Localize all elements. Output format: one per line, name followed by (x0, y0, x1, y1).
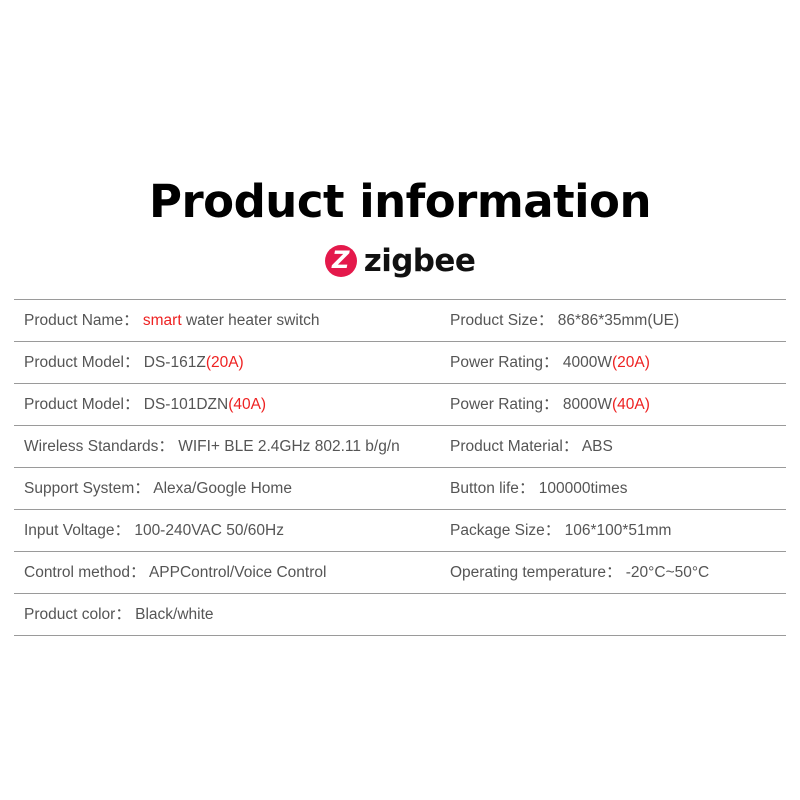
spec-row: Wireless Standards： WIFI+ BLE 2.4GHz 802… (14, 426, 786, 468)
spec-value: 86*86*35mm(UE) (553, 312, 679, 329)
spec-value: 100000times (534, 480, 627, 497)
spec-cell-right: Power Rating： 4000W(20A) (450, 353, 650, 373)
spec-value-accent-suffix: (20A) (206, 354, 244, 371)
zigbee-logo: Z zigbee (0, 245, 800, 277)
spec-label: Power Rating (450, 354, 543, 371)
spec-row: Support System： Alexa/Google HomeButton … (14, 468, 786, 510)
spec-separator: ： (158, 438, 174, 455)
spec-label: Product Name (24, 312, 123, 329)
spec-separator: ： (519, 480, 535, 497)
spec-row: Product Model： DS-101DZN(40A)Power Ratin… (14, 384, 786, 426)
spec-separator: ： (543, 396, 559, 413)
page-title: Product information (0, 176, 800, 228)
spec-cell-left: Product Model： DS-161Z(20A) (24, 353, 244, 373)
spec-cell-left: Control method： APPControl/Voice Control (24, 563, 326, 583)
spec-label: Product Model (24, 396, 124, 413)
spec-label: Button life (450, 480, 519, 497)
product-information-page: Product information Z zigbee Product Nam… (0, 0, 800, 800)
spec-cell-left: Support System： Alexa/Google Home (24, 479, 292, 499)
spec-value-accent-suffix: (20A) (612, 354, 650, 371)
spec-label: Input Voltage (24, 522, 115, 539)
spec-value: 8000W (559, 396, 612, 413)
spec-label: Wireless Standards (24, 438, 158, 455)
spec-value: APPControl/Voice Control (146, 564, 327, 581)
spec-value: DS-101DZN (139, 396, 228, 413)
spec-value: Alexa/Google Home (150, 480, 292, 497)
spec-value: ABS (578, 438, 612, 455)
spec-label: Product color (24, 606, 115, 623)
spec-value: 106*100*51mm (560, 522, 671, 539)
spec-label: Power Rating (450, 396, 543, 413)
spec-label: Product Material (450, 438, 563, 455)
spec-cell-left: Product Model： DS-101DZN(40A) (24, 395, 266, 415)
spec-separator: ： (134, 480, 150, 497)
spec-separator: ： (130, 564, 146, 581)
spec-separator: ： (543, 354, 559, 371)
spec-cell-left: Product color： Black/white (24, 605, 214, 625)
spec-value: 4000W (559, 354, 612, 371)
spec-row: Control method： APPControl/Voice Control… (14, 552, 786, 594)
spec-value-accent: smart (139, 312, 182, 329)
zigbee-circle-icon: Z (325, 245, 357, 277)
spec-cell-right: Power Rating： 8000W(40A) (450, 395, 650, 415)
spec-row: Product color： Black/white (14, 594, 786, 636)
spec-value: WIFI+ BLE 2.4GHz 802.11 b/g/n (174, 438, 400, 455)
spec-separator: ： (124, 354, 140, 371)
spec-cell-left: Wireless Standards： WIFI+ BLE 2.4GHz 802… (24, 437, 400, 457)
spec-label: Product Model (24, 354, 124, 371)
spec-value: Black/white (131, 606, 214, 623)
spec-cell-right: Product Size： 86*86*35mm(UE) (450, 311, 679, 331)
spec-value: -20°C~50°C (621, 564, 709, 581)
zigbee-wordmark: zigbee (364, 245, 476, 277)
spec-cell-right: Button life： 100000times (450, 479, 628, 499)
spec-label: Control method (24, 564, 130, 581)
spec-row: Input Voltage： 100-240VAC 50/60HzPackage… (14, 510, 786, 552)
specification-table: Product Name： smart water heater switchP… (14, 299, 786, 636)
spec-cell-right: Operating temperature： -20°C~50°C (450, 563, 709, 583)
spec-value: water heater switch (182, 312, 320, 329)
spec-separator: ： (115, 522, 131, 539)
spec-label: Support System (24, 480, 134, 497)
spec-separator: ： (563, 438, 579, 455)
spec-label: Product Size (450, 312, 538, 329)
spec-cell-left: Input Voltage： 100-240VAC 50/60Hz (24, 521, 284, 541)
spec-value: DS-161Z (139, 354, 205, 371)
spec-separator: ： (115, 606, 131, 623)
spec-label: Package Size (450, 522, 545, 539)
spec-value: 100-240VAC 50/60Hz (130, 522, 284, 539)
spec-label: Operating temperature (450, 564, 606, 581)
spec-row: Product Model： DS-161Z(20A)Power Rating：… (14, 342, 786, 384)
spec-separator: ： (124, 396, 140, 413)
spec-value-accent-suffix: (40A) (612, 396, 650, 413)
spec-cell-right: Package Size： 106*100*51mm (450, 521, 671, 541)
spec-separator: ： (606, 564, 622, 581)
spec-value-accent-suffix: (40A) (228, 396, 266, 413)
spec-cell-left: Product Name： smart water heater switch (24, 311, 320, 331)
spec-separator: ： (538, 312, 554, 329)
spec-separator: ： (123, 312, 139, 329)
spec-separator: ： (545, 522, 561, 539)
spec-row: Product Name： smart water heater switchP… (14, 300, 786, 342)
spec-cell-right: Product Material： ABS (450, 437, 613, 457)
zigbee-z-letter: Z (332, 248, 349, 272)
